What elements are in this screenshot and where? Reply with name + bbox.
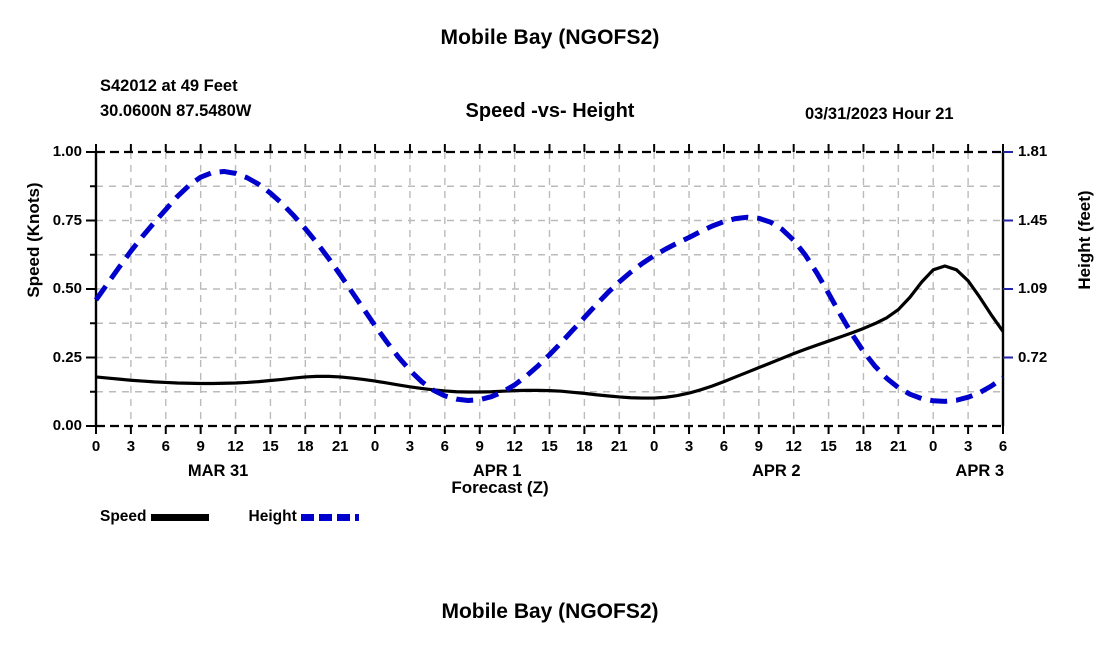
legend-label-height: Height [249,508,297,526]
legend-swatch-height-icon [301,514,359,521]
chart-page: Mobile Bay (NGOFS2) S42012 at 49 Feet 30… [0,0,1100,650]
x-axis-day-label: APR 2 [752,462,801,481]
legend-swatch-speed-icon [151,514,209,521]
y-tick-label-right: 0.72 [1018,349,1082,366]
y-tick-label-left: 0.00 [18,417,82,434]
legend-item-speed: Speed [100,508,209,526]
y-tick-label-right: 1.09 [1018,280,1082,297]
x-axis-day-label: MAR 31 [188,462,249,481]
y-tick-label-right: 1.45 [1018,212,1082,229]
page-title-bottom: Mobile Bay (NGOFS2) [0,600,1100,624]
x-tick-label: 6 [983,438,1023,455]
y-tick-label-left: 0.50 [18,280,82,297]
y-tick-label-right: 1.81 [1018,143,1082,160]
plot-area [0,0,1100,650]
gridlines [96,152,1003,426]
y-tick-label-left: 0.75 [18,212,82,229]
x-axis-day-label: APR 3 [955,462,1004,481]
legend-label-speed: Speed [100,508,147,526]
x-axis-label: Forecast (Z) [0,478,1000,498]
y-tick-label-left: 0.25 [18,349,82,366]
y-tick-label-left: 1.00 [18,143,82,160]
legend-item-height: Height [249,508,359,526]
x-axis-day-label: APR 1 [473,462,522,481]
chart-legend: Speed Height [100,508,359,526]
